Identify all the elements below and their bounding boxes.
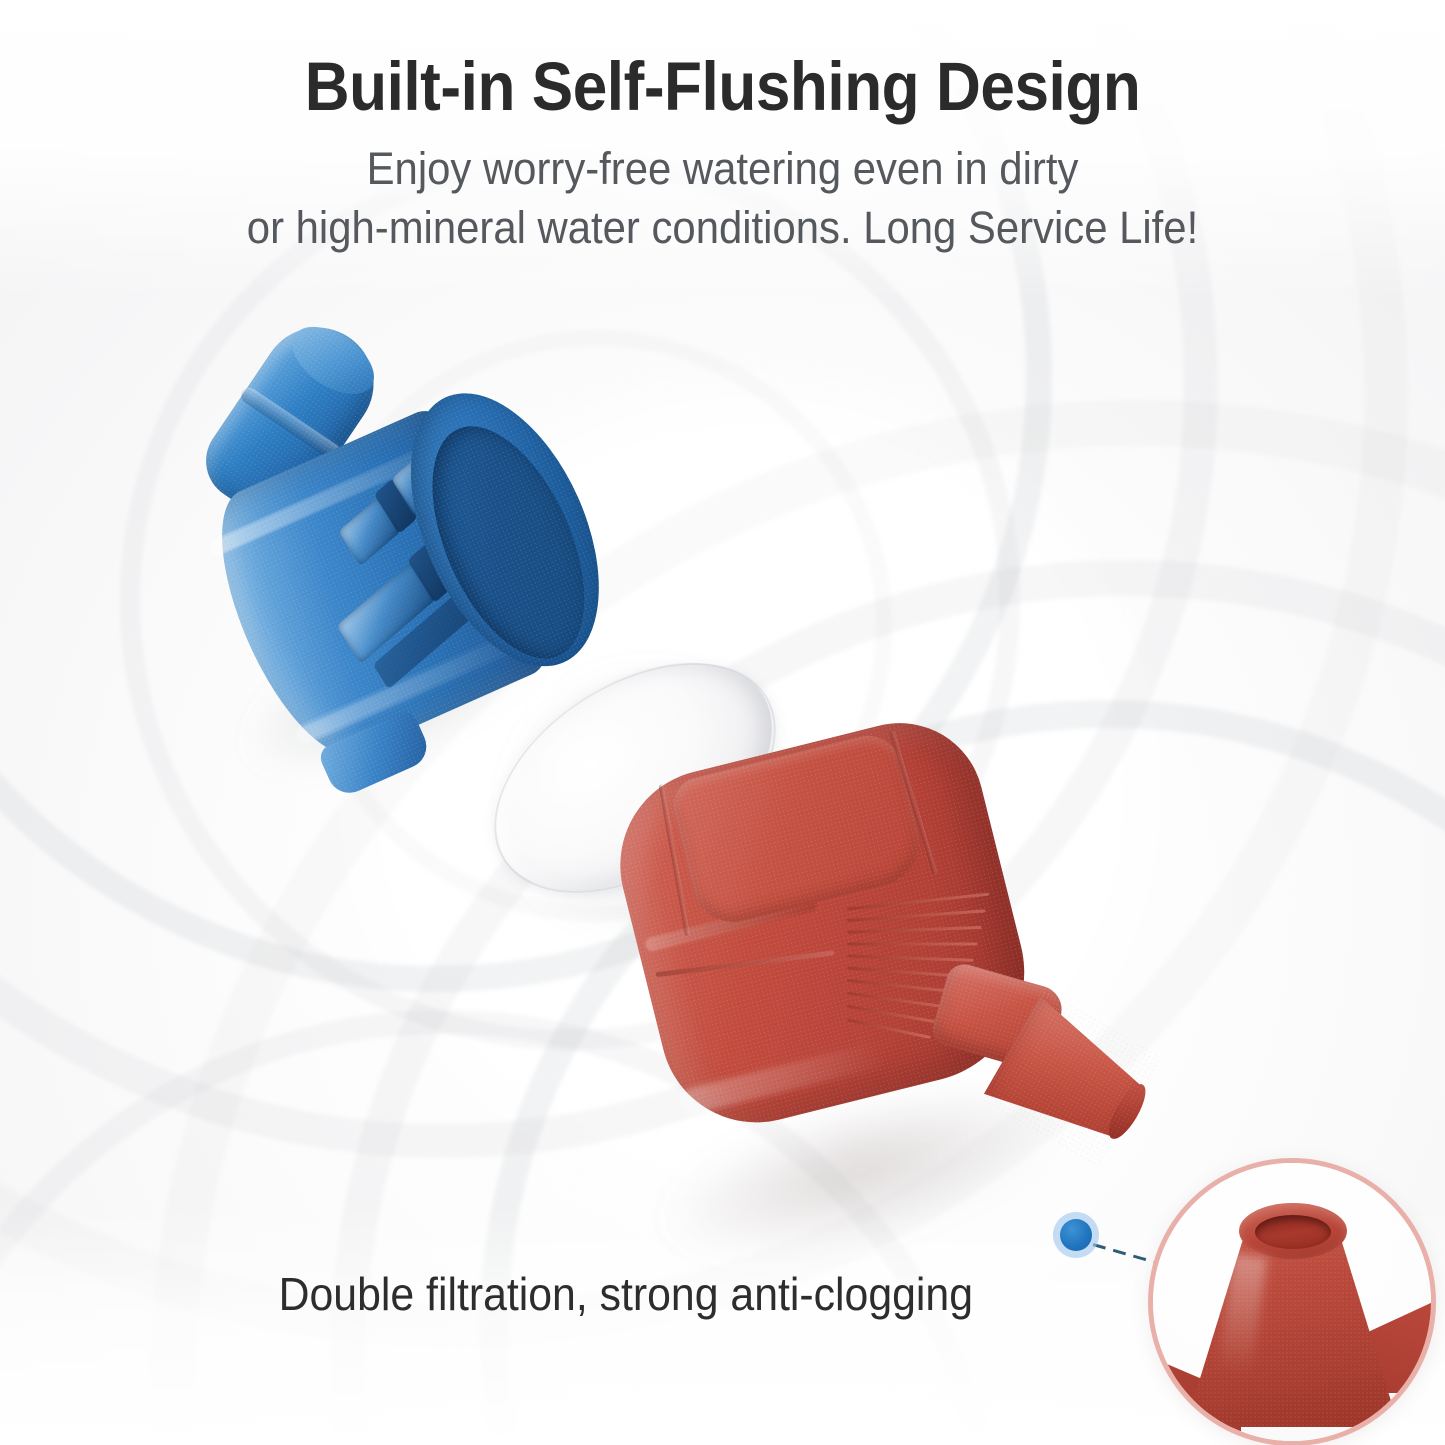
product-feature-image: Built-in Self-Flushing Design Enjoy worr…: [0, 0, 1445, 1445]
page-title: Built-in Self-Flushing Design: [72, 52, 1373, 122]
barb-stem-tip: [281, 313, 386, 408]
magnified-nozzle-cone: [1185, 1197, 1399, 1427]
magnified-outlet-orifice: [1255, 1215, 1331, 1249]
nozzle-outlet-marker: [1053, 1212, 1099, 1258]
rib-fin: [847, 954, 973, 962]
subtitle: Enjoy worry-free watering even in dirty …: [51, 140, 1395, 257]
nozzle-tip-magnifier-circle: [1148, 1158, 1436, 1445]
rib-fin: [847, 909, 985, 922]
red-dripper-body: [620, 735, 1180, 1265]
subtitle-line-1: Enjoy worry-free watering even in dirty: [51, 140, 1395, 199]
rib-fin: [847, 926, 981, 934]
marker-core: [1060, 1219, 1092, 1251]
feature-caption: Double filtration, strong anti-clogging: [40, 1267, 1100, 1321]
subtitle-line-2: or high-mineral water conditions. Long S…: [51, 199, 1395, 258]
rib-fin: [847, 942, 977, 945]
rib-fin: [847, 893, 989, 912]
